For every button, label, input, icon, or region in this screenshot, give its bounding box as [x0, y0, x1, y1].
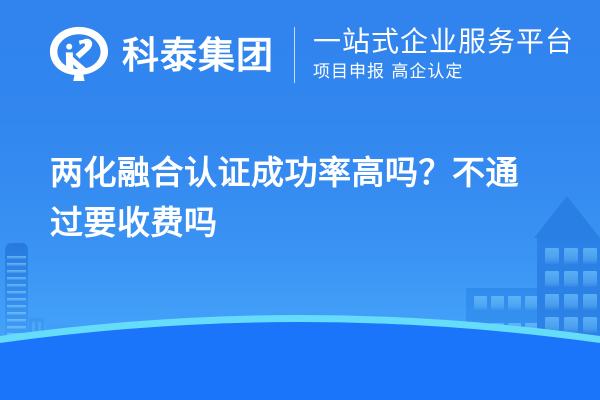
bottom-curve-arc [0, 290, 600, 400]
tagline-sub: 项目申报 高企认定 [313, 61, 574, 84]
building-wide-window-building-right [466, 288, 538, 356]
building-tall-striped-tower-left [5, 243, 28, 356]
promo-banner: 科泰集团 一站式企业服务平台 项目申报 高企认定 两化融合认证成功率高吗？不通过… [0, 0, 600, 400]
ketai-circle-logo-icon [48, 24, 110, 86]
page-title: 两化融合认证成功率高吗？不通过要收费吗 [50, 148, 550, 248]
tagline-main: 一站式企业服务平台 [313, 26, 574, 58]
building-low-block-left [46, 325, 73, 356]
tagline-group: 一站式企业服务平台 项目申报 高企认定 [313, 26, 574, 84]
building-small-block-left [29, 318, 44, 356]
banner-header: 科泰集团 一站式企业服务平台 项目申报 高企认定 [0, 0, 600, 110]
vertical-divider [294, 27, 295, 83]
brand-name: 科泰集团 [122, 37, 274, 74]
